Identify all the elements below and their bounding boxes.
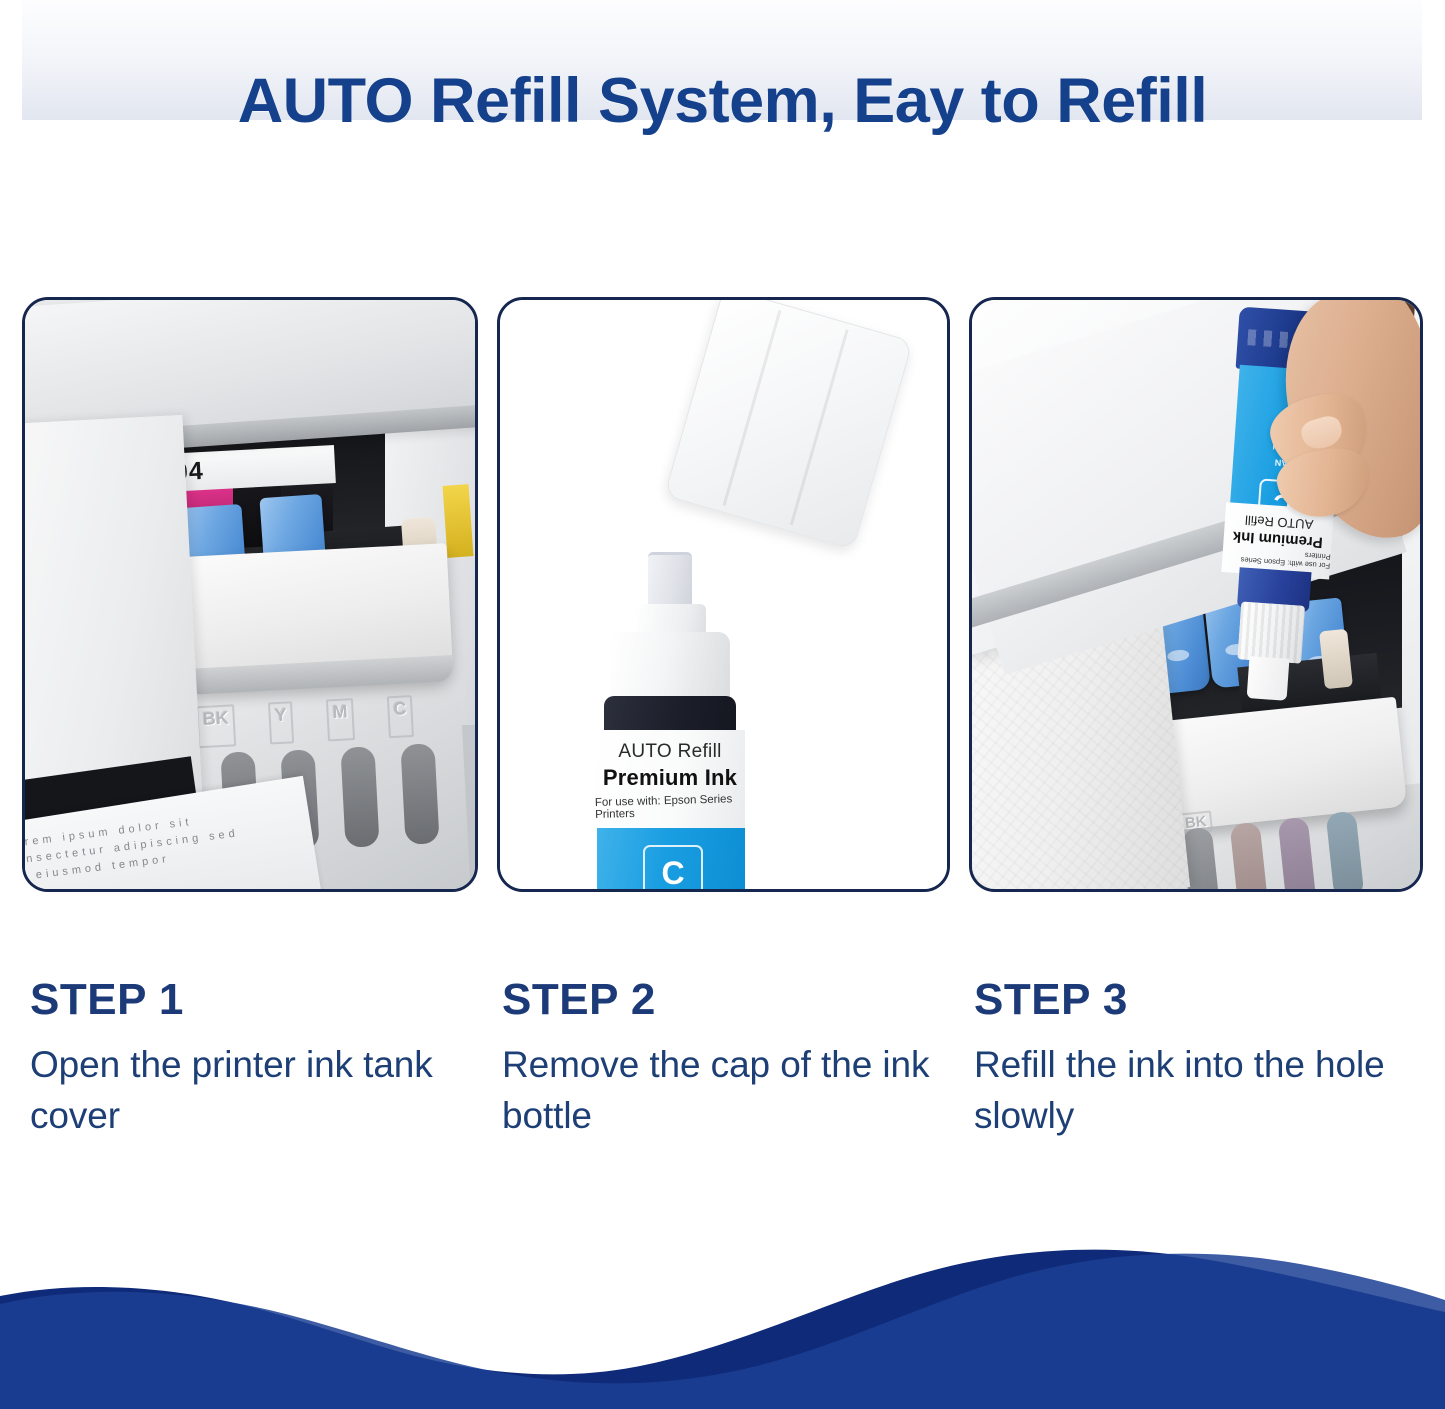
step-1-description: Open the printer ink tank cover bbox=[30, 1039, 470, 1141]
step-2-title: STEP 2 bbox=[502, 975, 942, 1025]
bottle-label-compat: For use with: Epson Series Printers bbox=[595, 793, 746, 821]
step-3-photo: 004 BK Y M C BK bbox=[972, 300, 1420, 889]
page-title: AUTO Refill System, Eay to Refill bbox=[0, 42, 1445, 160]
tank-port-label-c: C bbox=[387, 695, 414, 738]
printer-roller bbox=[1319, 629, 1353, 690]
ink-level-window-4 bbox=[400, 743, 439, 845]
bottom-wave-decoration bbox=[0, 1234, 1445, 1409]
step-1-text: STEP 1 Open the printer ink tank cover bbox=[30, 975, 470, 1141]
step-1-image-panel: 004 BK Y M C bbox=[22, 297, 478, 892]
paper-print-text: Lorem ipsum dolor sit consectetur adipis… bbox=[25, 807, 258, 888]
step-3-title: STEP 3 bbox=[974, 975, 1414, 1025]
wave-front-shape bbox=[0, 1254, 1445, 1409]
step-2-photo: AUTO Refill Premium Ink For use with: Ep… bbox=[500, 300, 947, 889]
tank-port-label-m: M bbox=[326, 698, 355, 741]
ink-level-window-3 bbox=[340, 746, 379, 848]
tank-port-label-y: Y bbox=[268, 701, 294, 744]
bottle-color-code-box: C bbox=[643, 845, 703, 889]
bottle-label-product: Premium Ink bbox=[603, 765, 737, 791]
step-1-title: STEP 1 bbox=[30, 975, 470, 1025]
bottle-nozzle-collar bbox=[1237, 601, 1305, 663]
bottle-label: AUTO Refill Premium Ink For use with: Ep… bbox=[595, 730, 745, 830]
yellow-marker bbox=[443, 484, 474, 558]
step-3-text: STEP 3 Refill the ink into the hole slow… bbox=[974, 975, 1414, 1141]
step-3-description: Refill the ink into the hole slowly bbox=[974, 1039, 1414, 1141]
step-1-photo: 004 BK Y M C bbox=[25, 300, 475, 889]
step-image-panels: 004 BK Y M C bbox=[0, 297, 1445, 897]
bottle-nozzle-tip bbox=[1247, 656, 1290, 701]
step-3-image-panel: 004 BK Y M C BK bbox=[969, 297, 1423, 892]
step-2-image-panel: AUTO Refill Premium Ink For use with: Ep… bbox=[497, 297, 950, 892]
step-2-text: STEP 2 Remove the cap of the ink bottle bbox=[502, 975, 942, 1141]
step-2-description: Remove the cap of the ink bottle bbox=[502, 1039, 942, 1141]
bottle-color-code: C bbox=[661, 855, 684, 890]
bottle-label-brand: AUTO Refill bbox=[618, 741, 721, 763]
tank-port-label-bk: BK bbox=[196, 704, 236, 748]
